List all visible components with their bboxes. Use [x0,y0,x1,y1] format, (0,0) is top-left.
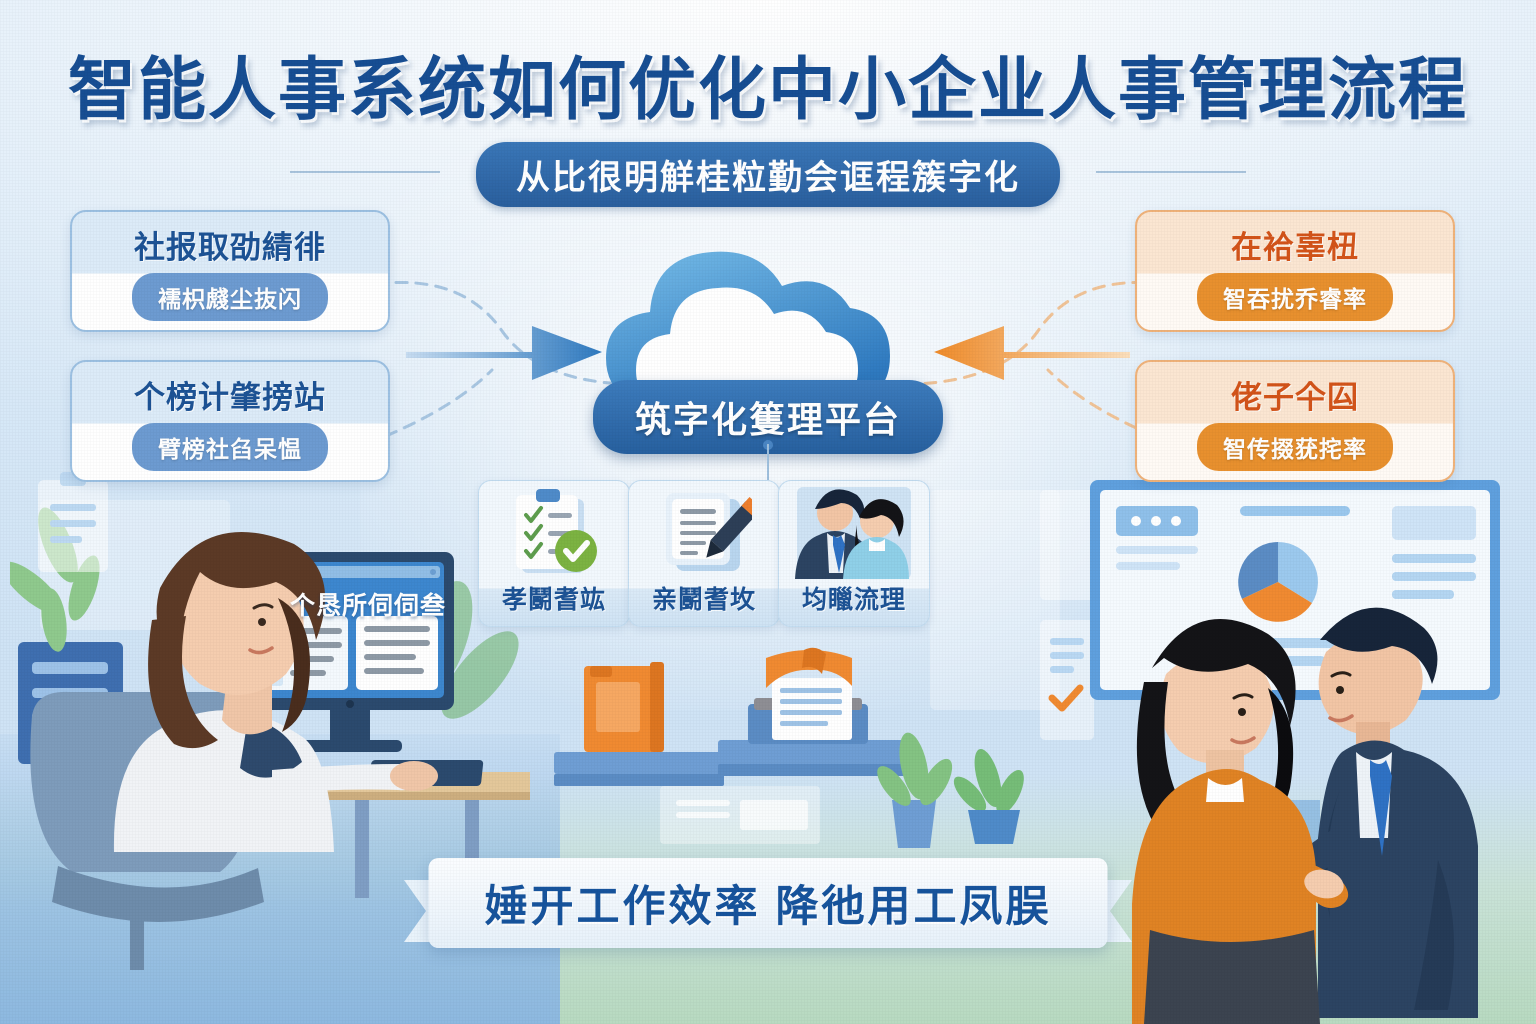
infographic-canvas: 个恳所伺伺叁 [0,0,1536,1024]
texture-overlay [0,0,1536,1024]
